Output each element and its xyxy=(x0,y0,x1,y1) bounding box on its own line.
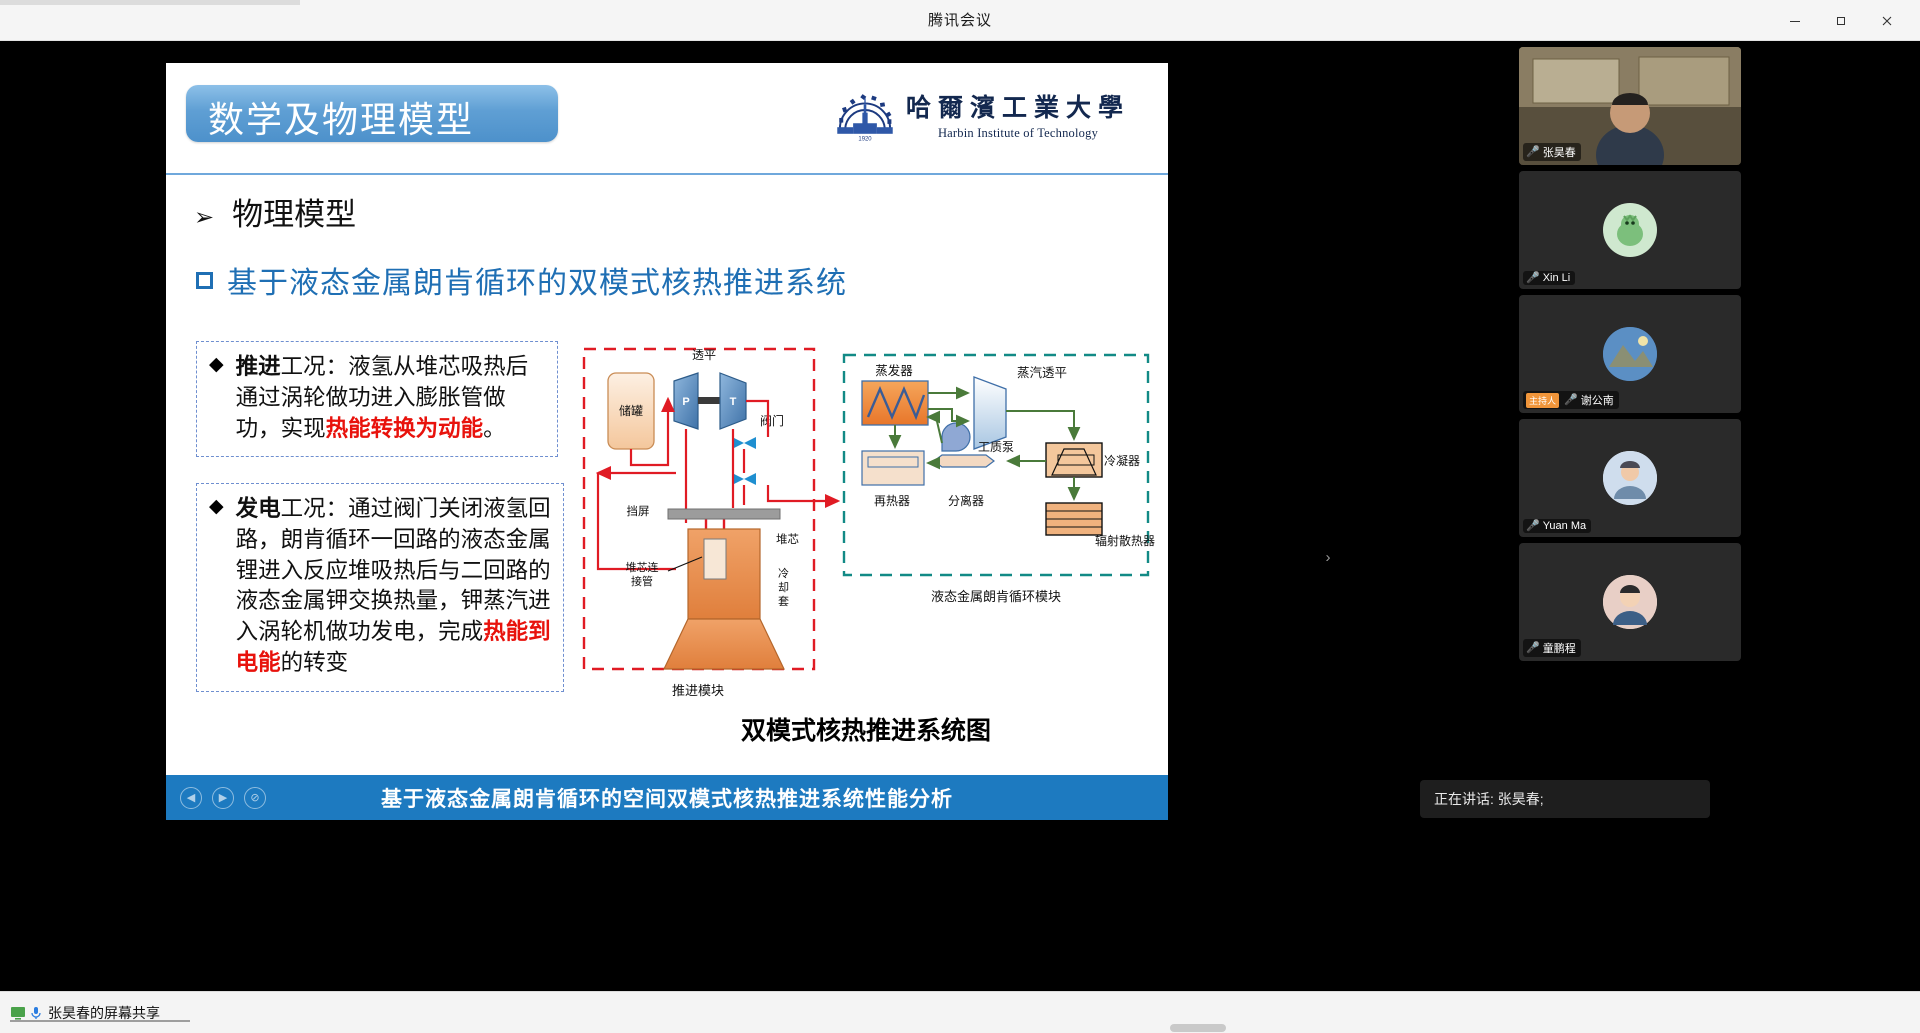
participant-tile[interactable]: 🎤 Xin Li xyxy=(1519,171,1741,289)
presentation-slide: 数学及物理模型 xyxy=(166,63,1168,820)
valve-symbol-2 xyxy=(732,473,756,485)
landscape-photo-avatar-icon xyxy=(1603,327,1657,381)
taskbar-active-underline xyxy=(10,1020,190,1022)
person-avatar-icon xyxy=(1603,451,1657,505)
mic-muted-icon: 🎤 xyxy=(1564,395,1578,406)
participant-name-badge: 🎤 Xin Li xyxy=(1523,271,1575,285)
mic-muted-icon: 🎤 xyxy=(1526,643,1540,654)
university-logo: 1920 哈爾濱工業大學 Harbin Institute of Technol… xyxy=(832,81,1130,147)
label-cooling-jacket-1: 冷 xyxy=(778,567,789,580)
logo-name-cn: 哈爾濱工業大學 xyxy=(906,88,1130,124)
label-core-connector-2: 接管 xyxy=(631,574,653,588)
taskbar-share-item[interactable]: 张昊春的屏幕共享 xyxy=(6,997,170,1029)
label-condenser: 冷凝器 xyxy=(1104,453,1140,468)
logo-year: 1920 xyxy=(858,136,872,142)
participant-name: 张昊春 xyxy=(1543,144,1576,160)
diamond-bullet-icon: ◆ xyxy=(209,494,224,679)
label-pump: P xyxy=(682,396,689,408)
collapse-rail-icon[interactable]: › xyxy=(1320,537,1336,577)
participant-tile[interactable]: 🎤 童鹏程 xyxy=(1519,543,1741,661)
slide-heading-level2-text: 基于液态金属朗肯循环的双模式核热推进系统 xyxy=(227,258,847,302)
note-line6pre-power: 完成 xyxy=(438,619,483,645)
participant-name-badge: 主持人 🎤 谢公南 xyxy=(1523,391,1619,409)
label-core-connector-1: 堆芯连 xyxy=(626,560,659,574)
mic-muted-icon: 🎤 xyxy=(1526,273,1540,284)
note-line3pre-propulsion: 实现 xyxy=(281,416,326,442)
note-line3post-propulsion: 。 xyxy=(483,416,506,442)
screen-share-area: 数学及物理模型 xyxy=(0,41,1336,991)
label-core: 堆芯 xyxy=(776,532,799,546)
label-shield: 挡屏 xyxy=(627,504,650,518)
avatar xyxy=(1603,575,1657,629)
slide-title-banner: 数学及物理模型 xyxy=(186,85,558,142)
note-box-power-generation: ◆ 发电工况：通过阀门关闭液氢回路，朗肯循环一回路的液态金属锂进入反应堆吸热后与… xyxy=(196,483,564,692)
slide-heading-level1-text: 物理模型 xyxy=(232,189,356,234)
microphone-icon xyxy=(30,1006,42,1020)
label-radiator: 辐射散热器 xyxy=(1095,533,1155,548)
slide-divider xyxy=(166,173,1168,175)
participant-name-badge: 🎤 Yuan Ma xyxy=(1523,519,1591,533)
window-controls xyxy=(1772,0,1910,41)
avatar xyxy=(1603,451,1657,505)
note-lead-propulsion: 推进 xyxy=(236,354,281,380)
note-body-propulsion: 推进工况：液氢从堆芯吸热后通过涡轮做功进入膨胀管做功，实现热能转换为动能。 xyxy=(236,352,545,444)
valve-symbol-1 xyxy=(732,437,756,449)
label-valve: 阀门 xyxy=(760,413,784,428)
arrow-bullet-icon: ➢ xyxy=(194,203,214,232)
participant-name: 童鹏程 xyxy=(1543,640,1576,656)
label-rankine-module: 液态金属朗肯循环模块 xyxy=(931,589,1061,605)
note-box-propulsion: ◆ 推进工况：液氢从堆芯吸热后通过涡轮做功进入膨胀管做功，实现热能转换为动能。 xyxy=(196,341,558,457)
speaking-toast-text: 正在讲话: 张昊春; xyxy=(1434,789,1544,809)
label-turbine: T xyxy=(730,396,737,408)
note-highlight-propulsion: 热能转换为动能 xyxy=(326,416,484,442)
participant-name: Xin Li xyxy=(1543,272,1571,284)
label-cooling-jacket-2: 却 xyxy=(778,581,789,594)
label-evaporator: 蒸发器 xyxy=(875,363,913,378)
note-line1-power: 工况：通过阀门关闭液氢 xyxy=(281,496,529,522)
taskbar-center-indicator xyxy=(1170,1024,1226,1032)
logo-name-en: Harbin Institute of Technology xyxy=(938,126,1098,141)
minimize-icon[interactable] xyxy=(1772,0,1818,41)
boy-avatar-icon xyxy=(1603,575,1657,629)
label-cooling-jacket-3: 套 xyxy=(778,595,789,608)
diamond-bullet-icon: ◆ xyxy=(209,352,224,444)
participant-name-badge: 🎤 童鹏程 xyxy=(1523,639,1581,657)
square-bullet-icon xyxy=(196,272,213,289)
note-body-power-generation: 发电工况：通过阀门关闭液氢回路，朗肯循环一回路的液态金属锂进入反应堆吸热后与二回… xyxy=(236,494,551,679)
label-tank: 储罐 xyxy=(619,403,643,418)
app-title: 腾讯会议 xyxy=(0,0,1920,41)
slide-title: 数学及物理模型 xyxy=(208,91,474,143)
slide-footer-text: 基于液态金属朗肯循环的空间双模式核热推进系统性能分析 xyxy=(166,783,1168,813)
screen-share-icon xyxy=(10,1005,26,1021)
participant-name: 谢公南 xyxy=(1581,392,1614,408)
slide-heading-level1: ➢ 物理模型 xyxy=(194,189,356,234)
os-taskbar: 张昊春的屏幕共享 xyxy=(0,991,1920,1033)
slide-heading-level2: 基于液态金属朗肯循环的双模式核热推进系统 xyxy=(196,258,847,302)
slide-footer: ◀ ▶ ⊘ 基于液态金属朗肯循环的空间双模式核热推进系统性能分析 xyxy=(166,775,1168,820)
label-working-fluid-pump: 工质泵 xyxy=(978,440,1014,454)
label-propulsion-module: 推进模块 xyxy=(672,684,724,699)
diagram-caption: 双模式核热推进系统图 xyxy=(586,711,1146,747)
note-lead-power: 发电 xyxy=(236,496,281,522)
speaking-toast: 正在讲话: 张昊春; xyxy=(1420,780,1710,818)
label-turbopump: 透平 xyxy=(692,348,716,362)
participant-tile[interactable]: 🎤 Yuan Ma xyxy=(1519,419,1741,537)
note-line6post-power: 的转变 xyxy=(281,650,349,676)
host-badge: 主持人 xyxy=(1526,393,1559,408)
label-separator: 分离器 xyxy=(948,493,984,508)
participant-name: Yuan Ma xyxy=(1543,520,1586,532)
taskbar-icons xyxy=(10,1005,42,1021)
participant-tile[interactable]: 🎤 张昊春 xyxy=(1519,47,1741,165)
participant-name-badge: 🎤 张昊春 xyxy=(1523,143,1581,161)
restore-icon[interactable] xyxy=(1818,0,1864,41)
participant-rail: 🎤 张昊春 🎤 Xin Li 主持人 xyxy=(1340,41,1920,991)
close-icon[interactable] xyxy=(1864,0,1910,41)
avatar xyxy=(1603,327,1657,381)
label-reheater: 再热器 xyxy=(874,494,910,508)
note-line1-propulsion: 工况：液氢从堆芯吸热后 xyxy=(281,354,529,380)
participant-tile[interactable]: 主持人 🎤 谢公南 xyxy=(1519,295,1741,413)
dinosaur-avatar-icon xyxy=(1610,210,1650,250)
hit-emblem-icon: 1920 xyxy=(832,81,898,147)
system-schematic: 储罐 透平 P T 阀门 xyxy=(576,333,1156,753)
mic-muted-icon: 🎤 xyxy=(1526,521,1540,532)
avatar xyxy=(1603,203,1657,257)
label-steam-turbine: 蒸汽透平 xyxy=(1017,365,1067,380)
window-title-bar: 腾讯会议 xyxy=(0,0,1920,41)
mic-on-icon: 🎤 xyxy=(1526,147,1540,158)
